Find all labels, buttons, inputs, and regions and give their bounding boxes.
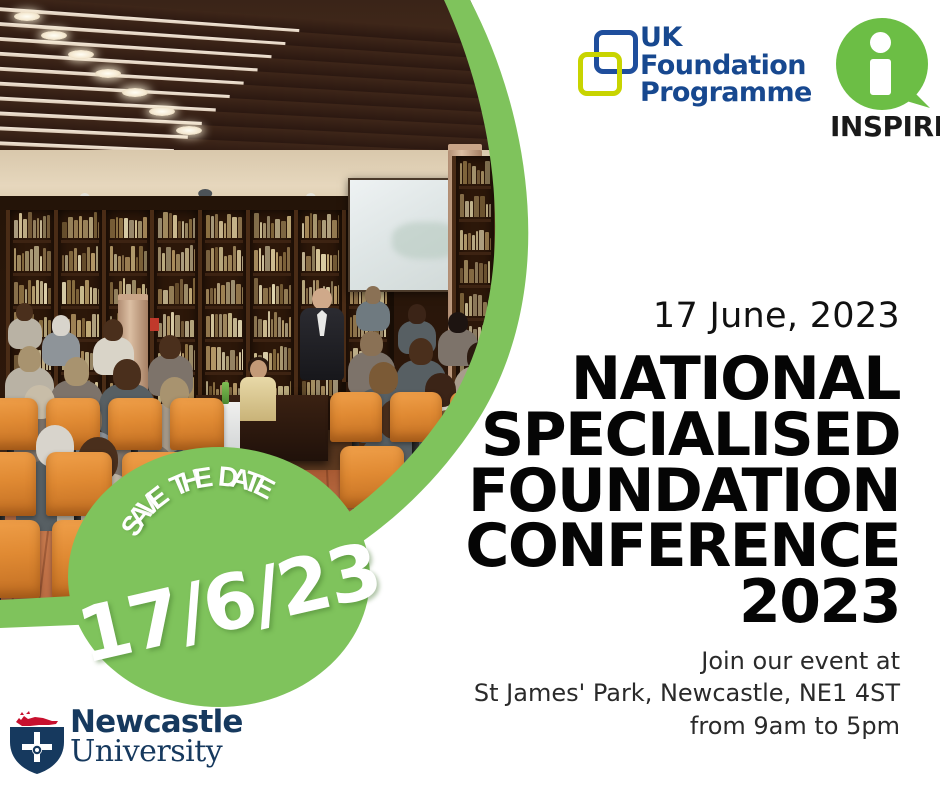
book	[289, 317, 291, 337]
bookshelf-row	[13, 210, 51, 243]
book	[518, 268, 521, 289]
book	[302, 223, 304, 238]
book	[604, 185, 609, 202]
venue-details: Join our event at St James' Park, Newcas…	[380, 645, 900, 742]
book	[211, 314, 214, 337]
bookshelf-row	[157, 276, 195, 309]
book	[44, 317, 47, 337]
book	[279, 256, 282, 271]
book	[230, 350, 235, 370]
book	[316, 380, 320, 396]
book	[175, 283, 179, 304]
book	[509, 169, 512, 190]
book	[238, 320, 242, 337]
book	[206, 250, 210, 271]
book	[460, 194, 464, 217]
bookshelf-row	[459, 255, 491, 288]
book	[507, 237, 512, 257]
book	[222, 352, 225, 370]
book	[136, 257, 138, 271]
book	[613, 316, 615, 334]
book	[284, 289, 288, 304]
book	[524, 207, 527, 223]
audience-head	[52, 315, 70, 335]
inspire-logo: INSPIRE	[830, 18, 940, 140]
bookshelf-row	[109, 243, 147, 276]
book	[470, 201, 473, 217]
book	[522, 268, 524, 289]
book	[171, 312, 174, 337]
audience-head	[408, 304, 426, 324]
book	[223, 314, 227, 337]
book	[488, 300, 491, 316]
book	[610, 186, 614, 202]
book	[553, 245, 556, 262]
book	[158, 247, 161, 271]
book	[262, 255, 264, 271]
book	[548, 239, 552, 262]
bookshelf-row	[301, 243, 339, 276]
book	[14, 220, 18, 238]
book	[480, 196, 485, 217]
book	[276, 286, 279, 304]
bookshelf-row	[109, 210, 147, 243]
book	[281, 221, 286, 238]
bookshelf-row	[543, 168, 575, 201]
book	[82, 253, 86, 271]
book	[312, 246, 315, 271]
book	[523, 232, 526, 256]
book	[62, 255, 64, 271]
book	[288, 348, 291, 370]
book	[609, 314, 612, 334]
book	[524, 169, 526, 190]
letter-i-dot-icon	[870, 32, 891, 53]
book	[98, 289, 99, 304]
book	[502, 239, 506, 256]
bookshelf-row	[205, 210, 243, 243]
audience-head	[113, 359, 140, 389]
book	[275, 219, 280, 238]
book	[465, 303, 468, 316]
book	[122, 255, 124, 271]
book	[475, 262, 478, 283]
book	[548, 312, 553, 328]
book	[125, 257, 130, 271]
book	[143, 217, 147, 238]
book	[557, 245, 560, 262]
book	[47, 251, 51, 271]
book	[558, 205, 562, 229]
book	[287, 216, 291, 238]
book	[506, 176, 508, 190]
book	[510, 301, 513, 322]
book	[606, 322, 608, 334]
book	[522, 300, 526, 322]
book	[87, 247, 90, 271]
book	[472, 166, 476, 184]
book	[65, 255, 68, 271]
chair-leg	[0, 594, 1, 640]
book	[189, 219, 192, 238]
speaker-presenter	[300, 288, 344, 380]
venue-line-1: Join our event at	[380, 645, 900, 677]
book	[474, 196, 479, 217]
book	[567, 177, 571, 196]
ukfp-squares-icon	[578, 30, 642, 94]
book	[561, 250, 563, 262]
bookshelf-row	[543, 234, 575, 267]
book	[62, 282, 66, 304]
book	[185, 321, 189, 337]
ukfp-wordmark: UK Foundation Programme	[640, 24, 812, 107]
bookshelf-row	[459, 156, 491, 189]
book	[469, 296, 472, 316]
book	[114, 254, 117, 271]
book	[215, 314, 218, 337]
book	[172, 250, 175, 271]
bookshelf-row	[459, 189, 491, 222]
book	[44, 283, 47, 304]
bookshelf-row	[501, 228, 533, 261]
book	[572, 307, 575, 328]
book	[469, 269, 474, 283]
book	[25, 251, 29, 271]
book	[211, 248, 214, 271]
auditorium-chair	[0, 452, 36, 516]
book	[233, 318, 237, 337]
book	[40, 281, 43, 304]
book	[311, 378, 315, 396]
auditorium-chair	[0, 520, 40, 598]
book	[473, 294, 477, 316]
book	[460, 268, 463, 283]
book	[90, 287, 92, 304]
newcastle-shield-icon	[8, 706, 66, 776]
book	[79, 216, 82, 238]
book	[166, 247, 171, 271]
book	[116, 217, 118, 238]
bookshelf-row	[205, 243, 243, 276]
book	[96, 246, 98, 271]
bookshelf-row	[585, 240, 617, 273]
book	[83, 220, 88, 238]
book	[564, 310, 567, 328]
book	[514, 308, 516, 322]
book	[271, 249, 275, 271]
book	[131, 246, 135, 271]
book	[485, 161, 490, 184]
book	[271, 319, 273, 337]
book	[520, 173, 523, 190]
book	[615, 186, 617, 202]
book	[260, 222, 262, 238]
book	[464, 260, 468, 283]
book	[221, 285, 225, 304]
book	[211, 347, 216, 370]
book	[552, 213, 557, 229]
book	[206, 346, 210, 370]
audience-head	[499, 320, 520, 343]
book	[305, 216, 309, 238]
ceiling-light	[68, 50, 94, 59]
event-title: NATIONAL SPECIALISED FOUNDATION CONFEREN…	[340, 352, 900, 631]
book	[163, 290, 168, 304]
book	[185, 248, 189, 271]
ceiling-light	[41, 31, 67, 40]
book	[67, 280, 71, 304]
ukfp-line-2: Foundation	[640, 52, 812, 80]
book	[228, 255, 232, 271]
book	[110, 219, 115, 238]
book	[601, 245, 605, 268]
bookshelf-row	[253, 210, 291, 243]
book	[206, 316, 210, 337]
book	[564, 172, 566, 196]
water-bottle	[222, 382, 229, 404]
book	[158, 218, 162, 238]
book	[615, 249, 617, 268]
auditorium-chair	[0, 398, 38, 450]
book	[544, 179, 547, 196]
book	[217, 283, 220, 304]
audience-head	[18, 346, 42, 372]
book	[594, 214, 598, 235]
book	[472, 235, 475, 250]
book	[162, 253, 165, 271]
book	[193, 278, 195, 304]
book	[22, 253, 24, 271]
book	[559, 176, 563, 196]
bookshelf-row	[205, 309, 243, 342]
title-line-5: 2023	[340, 575, 900, 631]
book	[590, 311, 595, 334]
bookshelf-row	[501, 195, 533, 228]
book	[486, 204, 488, 217]
book	[544, 209, 547, 229]
bookshelf-row	[301, 210, 339, 243]
book	[181, 321, 184, 337]
book	[554, 184, 558, 196]
audience-head	[16, 303, 33, 321]
bookshelf-row	[253, 243, 291, 276]
book	[528, 210, 532, 223]
book	[513, 210, 517, 223]
book	[338, 215, 339, 238]
book	[158, 289, 162, 304]
book	[563, 210, 565, 229]
book	[322, 220, 326, 238]
ceiling-light	[122, 88, 148, 97]
book	[274, 312, 277, 337]
book	[280, 346, 283, 370]
book	[559, 307, 563, 328]
bookshelf-row	[585, 174, 617, 207]
book	[62, 222, 67, 238]
bookshelf-row	[585, 306, 617, 339]
ceiling-light	[14, 12, 40, 21]
book	[138, 221, 142, 238]
book	[465, 201, 469, 217]
book	[263, 288, 268, 304]
book	[544, 247, 547, 262]
bookshelf-row	[585, 273, 617, 306]
auditorium-chair	[108, 398, 162, 450]
book	[586, 317, 589, 334]
book	[478, 295, 482, 316]
book	[595, 281, 599, 301]
book	[613, 216, 617, 235]
book	[37, 218, 39, 238]
book	[215, 214, 218, 238]
book	[518, 206, 523, 223]
book	[124, 218, 128, 238]
book	[479, 230, 484, 251]
book	[586, 253, 591, 268]
book	[68, 217, 73, 238]
book	[82, 318, 85, 337]
book	[48, 288, 51, 304]
book	[215, 247, 218, 271]
book	[91, 253, 95, 271]
book	[531, 305, 533, 322]
book	[573, 245, 575, 262]
book	[329, 378, 332, 396]
save-the-date-badge: SAVE THE DATE 17/6/23	[68, 447, 370, 707]
book	[43, 248, 46, 271]
book	[502, 206, 504, 223]
book	[17, 255, 21, 271]
book	[236, 356, 238, 370]
book	[568, 241, 572, 262]
book	[333, 255, 337, 271]
book	[242, 287, 243, 304]
book	[327, 214, 331, 238]
book	[350, 317, 352, 337]
book	[47, 215, 50, 238]
book	[586, 220, 589, 235]
speaker-head	[312, 288, 332, 310]
book	[460, 163, 462, 184]
book	[268, 311, 270, 337]
book	[527, 235, 531, 256]
book	[169, 213, 172, 238]
audience-head	[64, 357, 90, 385]
audience-head	[365, 286, 382, 304]
book	[139, 246, 143, 271]
book	[74, 220, 78, 238]
book	[316, 249, 320, 271]
book	[19, 285, 24, 304]
book	[527, 299, 530, 322]
book	[190, 245, 193, 271]
book	[233, 246, 236, 271]
book	[307, 382, 310, 396]
book	[488, 261, 490, 283]
book	[40, 256, 42, 271]
ukfp-lime-square-icon	[578, 52, 622, 96]
book	[93, 288, 97, 304]
book	[284, 347, 287, 370]
book	[224, 223, 226, 238]
book	[167, 316, 170, 337]
book	[28, 280, 31, 304]
book	[182, 221, 184, 238]
book	[326, 379, 328, 396]
book	[14, 282, 18, 304]
newcastle-line-2: University	[70, 737, 243, 767]
book	[272, 284, 275, 304]
book	[330, 255, 332, 271]
book	[242, 256, 243, 271]
book	[97, 314, 99, 337]
bookshelf-row	[61, 210, 99, 243]
book	[302, 252, 305, 271]
book	[544, 280, 547, 295]
book	[226, 356, 229, 370]
book	[163, 212, 168, 238]
book	[236, 284, 241, 304]
bookshelf-row	[543, 267, 575, 300]
book	[190, 320, 194, 337]
book	[267, 216, 270, 238]
book	[173, 215, 177, 238]
audience-shoulders	[8, 318, 42, 349]
book	[518, 237, 522, 256]
book	[92, 314, 96, 337]
book	[85, 280, 89, 304]
book	[94, 212, 97, 238]
book	[483, 302, 487, 316]
bookshelf-row	[543, 300, 575, 333]
book	[302, 381, 306, 396]
book	[32, 286, 35, 304]
book	[33, 220, 36, 238]
ceiling-light	[95, 69, 121, 78]
book	[227, 214, 231, 238]
book	[181, 252, 184, 271]
book	[586, 280, 589, 301]
book	[263, 320, 267, 337]
audience-shoulders	[356, 301, 390, 332]
book	[606, 248, 609, 268]
book	[144, 251, 147, 271]
bookshelf-row	[205, 342, 243, 375]
book	[548, 208, 551, 229]
book	[169, 286, 174, 304]
letter-i-stem-icon	[870, 59, 891, 95]
book	[603, 216, 608, 235]
book	[606, 279, 610, 301]
book	[76, 289, 79, 304]
book	[189, 288, 192, 304]
book	[572, 173, 574, 196]
book	[485, 232, 489, 250]
book	[254, 316, 257, 337]
book	[318, 220, 321, 238]
book	[178, 221, 181, 238]
audience-head	[159, 335, 181, 359]
book	[564, 243, 567, 262]
book	[277, 353, 279, 370]
book	[552, 280, 555, 295]
book	[119, 218, 123, 238]
ceiling-light	[149, 107, 175, 116]
event-date: 17 June, 2023	[653, 296, 900, 336]
book	[176, 254, 180, 271]
newcastle-university-logo: Newcastle University	[8, 706, 223, 780]
bookshelf-row	[585, 207, 617, 240]
